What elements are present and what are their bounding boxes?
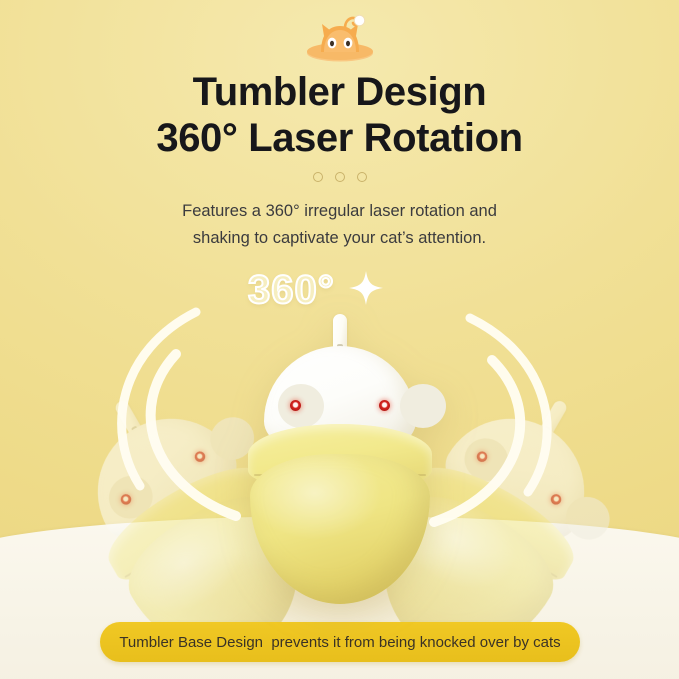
subtitle-line-1: Features a 360° irregular laser rotation… [0,198,679,225]
product-feature-banner: Tumbler Design 360° Laser Rotation Featu… [0,0,679,679]
dot-divider [0,172,679,182]
feature-banner-text: Tumbler Base Design prevents it from bei… [119,634,560,651]
feature-banner: Tumbler Base Design prevents it from bei… [100,622,580,662]
headline-line-1: Tumbler Design [193,70,487,114]
cat-hat-logo-icon [301,12,379,64]
headline-line-2: 360° Laser Rotation [0,116,679,162]
dot-2 [335,172,345,182]
cat-ear-right [400,384,446,428]
cat-ear-left [278,384,324,428]
subtitle-line-2: shaking to captivate your cat’s attentio… [0,225,679,252]
product-scene [0,300,679,600]
red-laser-emitter-left-icon [290,400,301,411]
tumbler-laser-cat-toy [242,304,438,554]
subtitle: Features a 360° irregular laser rotation… [0,198,679,252]
page-title: Tumbler Design 360° Laser Rotation [0,70,679,161]
dot-3 [357,172,367,182]
dot-1 [313,172,323,182]
red-laser-emitter-right-icon [379,400,390,411]
